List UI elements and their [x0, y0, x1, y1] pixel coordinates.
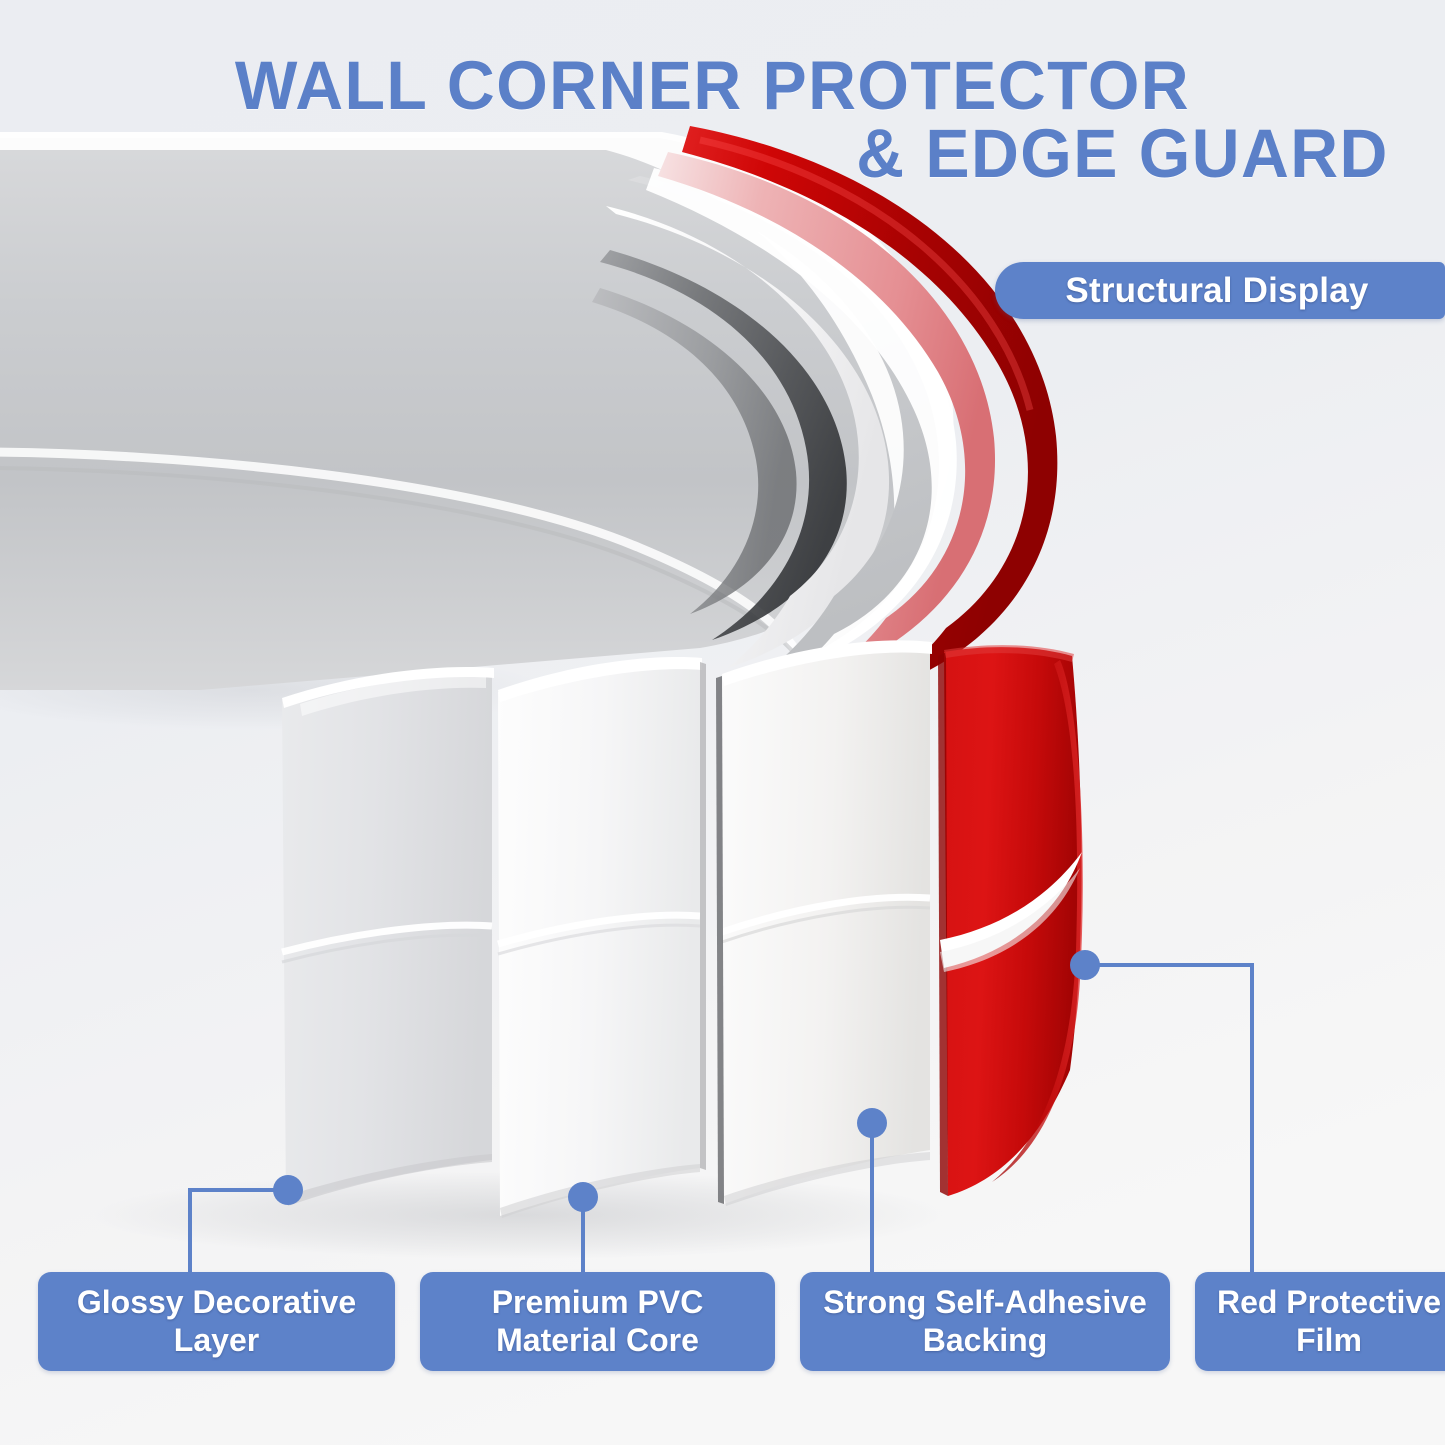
callout-label-text-2: Strong Self-AdhesiveBacking	[823, 1284, 1147, 1359]
callout-label-glossy-decorative-layer[interactable]: Glossy DecorativeLayer	[38, 1272, 395, 1371]
layer-panel-glossy-decorative	[282, 667, 494, 1206]
callout-label-text-0: Glossy DecorativeLayer	[77, 1284, 356, 1359]
callout-label-text-1: Premium PVCMaterial Core	[492, 1284, 704, 1359]
callout-label-strong-self-adhesive-backing[interactable]: Strong Self-AdhesiveBacking	[800, 1272, 1170, 1371]
layer-panel-adhesive-backing	[716, 640, 932, 1206]
product-illustration	[0, 0, 1445, 1445]
infographic-canvas: WALL CORNER PROTECTOR & EDGE GUARD Struc…	[0, 0, 1445, 1445]
callout-label-text-3: Red Protective Film	[1205, 1284, 1445, 1359]
structural-display-badge: Structural Display	[995, 262, 1445, 319]
structural-display-badge-label: Structural Display	[1065, 271, 1374, 311]
layer-panel-pvc-core	[498, 657, 706, 1218]
callout-label-red-protective-film[interactable]: Red Protective Film	[1195, 1272, 1445, 1371]
callout-label-premium-pvc-material-core[interactable]: Premium PVCMaterial Core	[420, 1272, 775, 1371]
